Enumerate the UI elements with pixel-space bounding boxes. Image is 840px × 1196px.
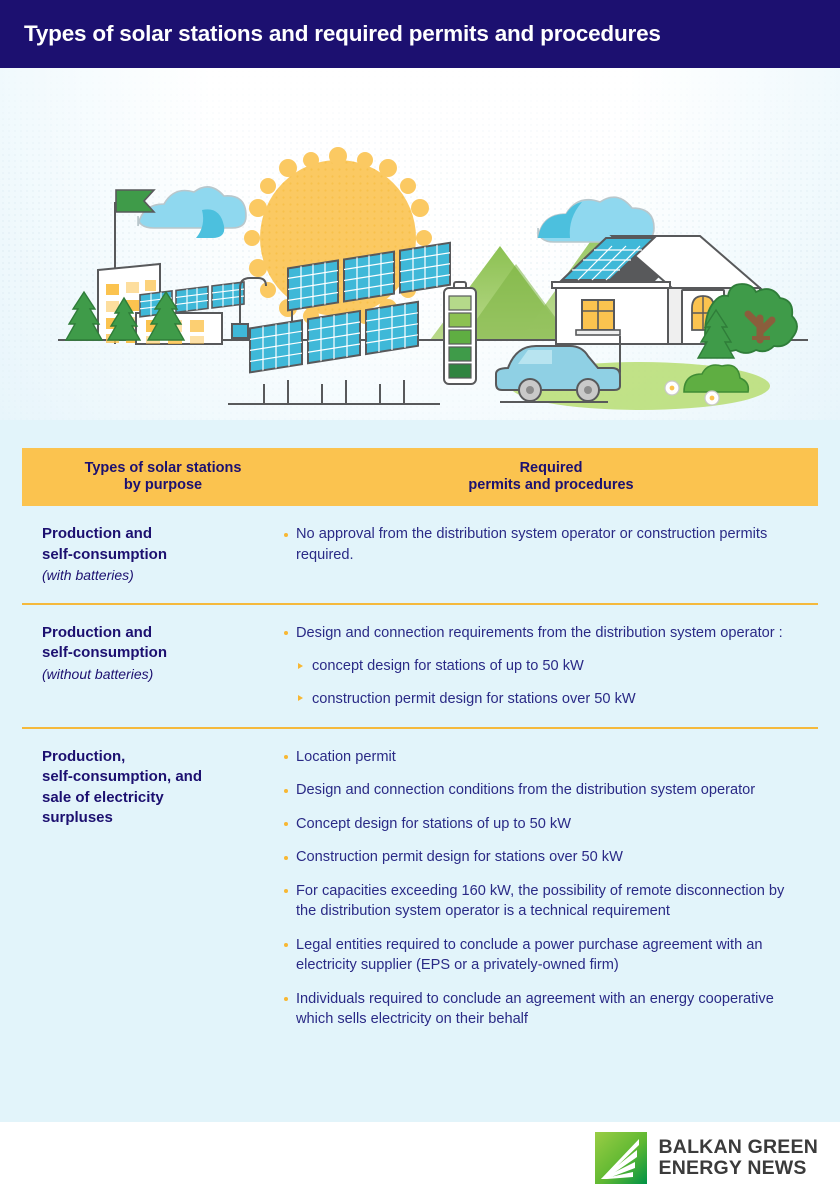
row-requirements: Location permit Design and connection co… [284,729,818,1030]
requirement-bullet: Location permit [284,747,790,768]
battery-charge-icon [444,282,476,384]
column-header-category-line2: by purpose [124,477,202,493]
row-category-line1: Production and [42,624,152,641]
column-header-category: Types of solar stations by purpose [22,460,284,494]
content-area: Types of solar stations by purpose Requi… [0,420,840,1122]
row-spacer [22,709,818,727]
row-category: Production and self-consumption (without… [22,605,284,710]
row-category-line2: self-consumption, and [42,768,202,785]
row-category-title: Production, self-consumption, and sale o… [42,747,284,829]
column-header-category-line1: Types of solar stations [85,460,242,476]
column-header-requirements-line1: Required [520,460,583,476]
brand-logo[interactable]: BALKAN GREEN ENERGY NEWS [595,1132,819,1184]
row-category-title: Production and self-consumption [42,524,284,565]
row-category-subtitle: (with batteries) [42,565,284,585]
requirement-bullet: For capacities exceeding 160 kW, the pos… [284,881,790,922]
requirement-bullet: No approval from the distribution system… [284,524,790,565]
row-category-line4: surpluses [42,809,113,826]
row-category-line2: self-consumption [42,546,167,563]
pine-trees-left [66,292,184,340]
permits-table: Types of solar stations by purpose Requi… [22,448,818,1030]
brand-logo-text: BALKAN GREEN ENERGY NEWS [659,1137,819,1179]
requirement-bullet: Concept design for stations of up to 50 … [284,814,790,835]
table-row: Production and self-consumption (without… [22,605,818,710]
footer-bar: BALKAN GREEN ENERGY NEWS [0,1122,840,1196]
balkan-green-logo-icon [595,1132,647,1184]
requirement-subbullet: concept design for stations of up to 50 … [284,656,790,677]
requirement-bullet: Legal entities required to conclude a po… [284,935,790,976]
requirement-subbullet: construction permit design for stations … [284,689,790,710]
solar-scene-illustration [0,68,840,420]
row-spacer [22,585,818,603]
requirement-bullet: Design and connection requirements from … [284,623,790,644]
row-category-subtitle: (without batteries) [42,664,284,684]
row-category-line2: self-consumption [42,644,167,661]
page-title: Types of solar stations and required per… [0,21,661,47]
header-bar: Types of solar stations and required per… [0,0,840,68]
row-category-line3: sale of electricity [42,789,164,806]
table-header-row: Types of solar stations by purpose Requi… [22,448,818,506]
illustration-band [0,68,840,420]
column-header-requirements: Required permits and procedures [284,460,818,494]
row-category-title: Production and self-consumption [42,623,284,664]
requirement-bullet: Construction permit design for stations … [284,847,790,868]
row-category-line1: Production, [42,748,125,765]
row-requirements: No approval from the distribution system… [284,506,818,585]
brand-logo-line2: ENERGY NEWS [659,1158,819,1179]
row-category-line1: Production and [42,525,152,542]
table-row: Production and self-consumption (with ba… [22,506,818,585]
row-category: Production, self-consumption, and sale o… [22,729,284,1030]
table-row: Production, self-consumption, and sale o… [22,729,818,1030]
column-header-requirements-line2: permits and procedures [468,477,633,493]
requirement-bullet: Design and connection conditions from th… [284,780,790,801]
brand-logo-line1: BALKAN GREEN [659,1137,819,1158]
row-category: Production and self-consumption (with ba… [22,506,284,585]
requirement-bullet: Individuals required to conclude an agre… [284,989,790,1030]
infographic-page: Types of solar stations and required per… [0,0,840,1196]
row-requirements: Design and connection requirements from … [284,605,818,710]
